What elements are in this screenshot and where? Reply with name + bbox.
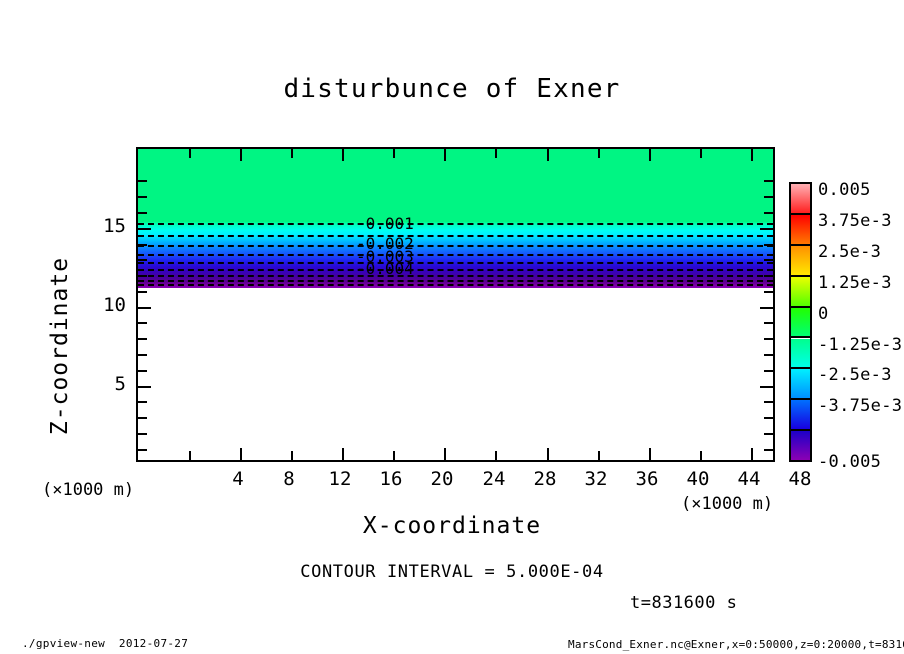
x-tick [189, 451, 191, 460]
y-axis-unit-label: (×1000 m) [42, 480, 134, 500]
contour-line [138, 245, 773, 247]
contour-label: -0.004 [356, 259, 414, 278]
contour-line [138, 262, 773, 264]
contour-line [138, 280, 773, 282]
colorbar-band [791, 246, 810, 277]
y-tick-right [764, 370, 773, 372]
colorbar-band [791, 400, 810, 431]
contour-data-region: -0.001 -0.002 -0.003 -0.004 [138, 149, 773, 288]
y-tick-right [764, 322, 773, 324]
y-tick [138, 449, 147, 451]
colorbar-label: -0.005 [818, 452, 881, 472]
x-axis-title: X-coordinate [0, 513, 904, 539]
colorbar-band [791, 277, 810, 308]
x-tick [291, 451, 293, 460]
y-tick-right [764, 180, 773, 182]
x-tick-top [240, 149, 242, 161]
y-tick-right [764, 449, 773, 451]
x-tick-top [751, 149, 753, 161]
x-tick-label: 44 [738, 468, 761, 490]
y-tick-right [760, 307, 773, 309]
y-tick [138, 291, 147, 293]
y-tick-right [764, 401, 773, 403]
x-tick-top [342, 149, 344, 161]
x-tick-label: 28 [534, 468, 557, 490]
contour-line [138, 275, 773, 277]
contour-label: -0.001 [356, 214, 414, 233]
y-tick [138, 212, 147, 214]
x-tick-top [189, 149, 191, 158]
y-tick [138, 386, 151, 388]
y-tick-right [764, 354, 773, 356]
x-tick-label: 24 [483, 468, 506, 490]
x-tick-top [393, 149, 395, 158]
y-tick [138, 180, 147, 182]
colorbar-label: 2.5e-3 [818, 242, 881, 262]
contour-band-zero [138, 149, 773, 222]
colorbar-label: -1.25e-3 [818, 335, 902, 355]
contour-line [138, 284, 773, 286]
y-tick [138, 275, 147, 277]
contour-line [138, 235, 773, 237]
y-tick [138, 354, 147, 356]
y-tick [138, 370, 147, 372]
y-axis-title: Z-coordinate [47, 226, 73, 466]
y-tick [138, 433, 147, 435]
colorbar-band [791, 369, 810, 400]
y-tick-right [760, 228, 773, 230]
x-tick-top [649, 149, 651, 161]
colorbar-label: -2.5e-3 [818, 365, 892, 385]
y-tick-right [764, 259, 773, 261]
colorbar-label: -3.75e-3 [818, 396, 902, 416]
contour-interval-note: CONTOUR INTERVAL = 5.000E-04 [0, 562, 904, 582]
x-tick [649, 448, 651, 460]
colorbar-band [791, 184, 810, 215]
colorbar-label: 0 [818, 304, 829, 324]
y-tick [138, 259, 147, 261]
x-tick [444, 448, 446, 460]
y-tick-label: 5 [88, 373, 126, 395]
x-tick-top [700, 149, 702, 158]
x-tick-label: 8 [283, 468, 294, 490]
y-tick [138, 196, 147, 198]
x-tick-label: 20 [431, 468, 454, 490]
y-tick-label: 15 [88, 215, 126, 237]
y-tick [138, 338, 147, 340]
y-tick-right [764, 433, 773, 435]
x-axis-unit-label: (×1000 m) [681, 494, 773, 514]
y-tick [138, 244, 147, 246]
plot-area: -0.001 -0.002 -0.003 -0.004 [136, 147, 775, 462]
x-tick-top [291, 149, 293, 158]
x-tick-top [598, 149, 600, 158]
y-tick-right [764, 275, 773, 277]
y-tick-right [764, 212, 773, 214]
x-tick-label: 36 [636, 468, 659, 490]
colorbar-band [791, 339, 810, 370]
x-tick-top [495, 149, 497, 158]
x-tick-label: 32 [585, 468, 608, 490]
y-tick [138, 401, 147, 403]
page-title: disturbunce of Exner [0, 74, 904, 104]
x-tick [393, 451, 395, 460]
y-tick-right [764, 196, 773, 198]
y-tick [138, 307, 151, 309]
contour-line [138, 223, 773, 225]
time-annotation: t=831600 s [630, 593, 737, 613]
x-tick-top [547, 149, 549, 161]
y-tick [138, 322, 147, 324]
colorbar-band [791, 215, 810, 246]
x-tick [751, 448, 753, 460]
x-tick-top [444, 149, 446, 161]
y-tick-right [764, 338, 773, 340]
x-tick [547, 448, 549, 460]
x-tick [342, 448, 344, 460]
y-tick [138, 228, 151, 230]
colorbar-band [791, 308, 810, 339]
colorbar-label: 3.75e-3 [818, 211, 892, 231]
y-tick-label: 10 [88, 294, 126, 316]
x-tick [700, 451, 702, 460]
x-tick [598, 451, 600, 460]
x-tick-label: 4 [232, 468, 243, 490]
x-tick-label: 16 [380, 468, 403, 490]
x-tick-label: 12 [329, 468, 352, 490]
footer-datasource: MarsCond_Exner.nc@Exner,x=0:50000,z=0:20… [568, 638, 904, 651]
colorbar-band [791, 431, 810, 460]
colorbar-label: 1.25e-3 [818, 273, 892, 293]
contour-line [138, 254, 773, 256]
footer-command: ./gpview-new 2012-07-27 [22, 637, 188, 650]
colorbar-label: 0.005 [818, 180, 871, 200]
colorbar [789, 182, 812, 462]
y-tick-right [764, 291, 773, 293]
x-tick-label: 48 [789, 468, 812, 490]
y-tick-right [764, 244, 773, 246]
y-tick-right [760, 386, 773, 388]
y-tick [138, 417, 147, 419]
x-tick [495, 451, 497, 460]
x-tick-label: 40 [687, 468, 710, 490]
y-tick-right [764, 417, 773, 419]
x-tick [240, 448, 242, 460]
contour-line [138, 269, 773, 271]
